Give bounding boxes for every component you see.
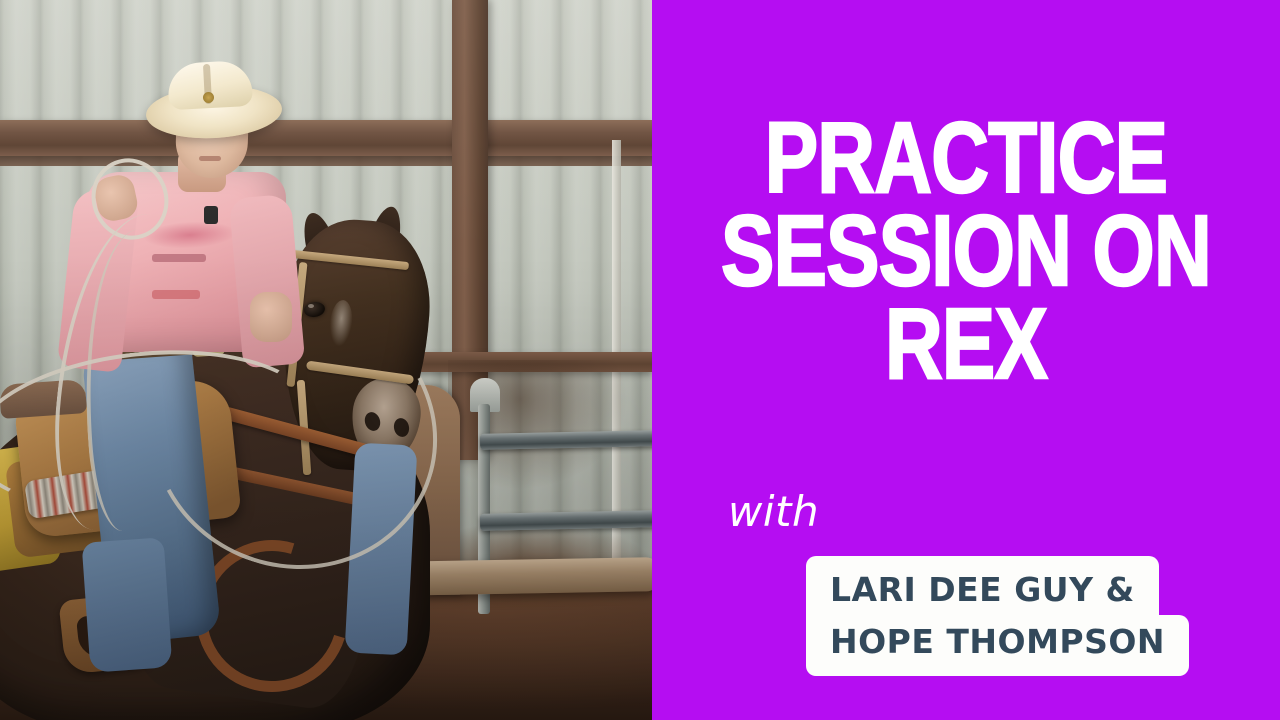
rider-lower-leg	[82, 537, 173, 672]
title-block: PRACTICE SESSION ON REX	[652, 112, 1280, 391]
title-line-1: PRACTICE	[715, 112, 1217, 205]
fence-rail-bottom	[480, 510, 652, 531]
title-line-3: REX	[715, 298, 1217, 391]
thumbnail-canvas: PRACTICE SESSION ON REX with LARI DEE GU…	[0, 0, 1280, 720]
photo-panel	[0, 0, 652, 720]
presenter-name-line-2: HOPE THOMPSON	[806, 615, 1189, 676]
lapel-microphone	[204, 206, 218, 224]
with-label: with	[728, 488, 819, 536]
rider-mouth	[199, 156, 221, 161]
rider-hand-right	[250, 292, 292, 342]
title-line-2: SESSION ON	[715, 205, 1217, 298]
conduit-pipe	[612, 140, 621, 560]
cowboy-hat-badge	[203, 92, 214, 103]
wall-dirt-stain	[448, 360, 628, 490]
steel-beam-upper-shadow	[0, 156, 652, 166]
steel-beam-upper	[0, 120, 652, 156]
presenter-name-line-1: LARI DEE GUY &	[806, 556, 1159, 616]
purple-title-panel: PRACTICE SESSION ON REX with LARI DEE GU…	[652, 0, 1280, 720]
presenter-nameplate: LARI DEE GUY & HOPE THOMPSON	[806, 556, 1189, 676]
